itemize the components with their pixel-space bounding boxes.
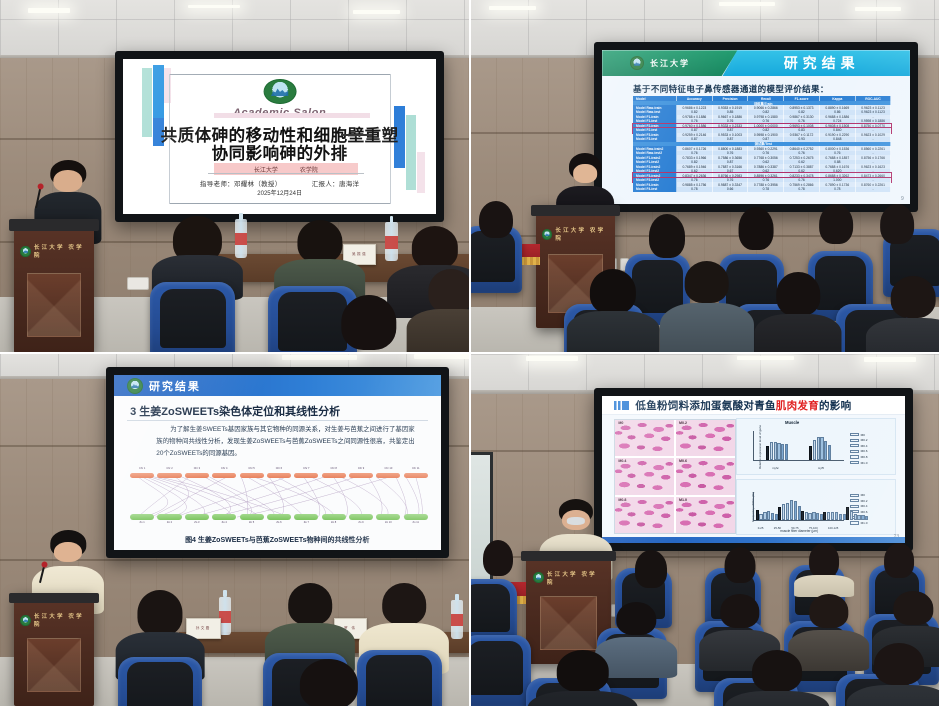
underline-mark [341,134,372,136]
hair [412,226,458,268]
legend-item: M1.0 [850,461,894,465]
bar [857,515,860,521]
hair [635,550,667,588]
chromosome-label: Chr 5 [248,467,254,470]
ceiling-light [855,7,902,11]
chromosome-bar: Zo 7 [294,514,318,520]
slide-header: 低鱼粉饲料添加蛋氨酸对青鱼肌肉发育的影响 [602,396,905,415]
torso [725,691,830,706]
hair [341,295,396,350]
audience-member [855,650,939,706]
hair [891,276,936,318]
legend-swatch [850,455,859,458]
lectern-front-panel [27,638,81,692]
panel-bottom-left: 研究结果 3 生姜ZoSWEETs染色体定位和其线性分析 为了解生姜SWEETs… [0,353,470,706]
figure-caption: 图4 生姜ZoSWEETs与芭蕉ZoSWEETs物种间的共线性分析 [114,535,441,545]
lectern-logo-text: 长江大学 农学院 [34,612,88,628]
x-tick-label: myf5 [818,466,824,470]
legend-item: M1.0 [850,521,894,525]
hair [809,543,839,578]
micrograph-label: M0.2 [679,421,687,425]
divider [169,74,391,75]
micrograph-label: M0.4 [618,459,626,463]
bar [767,511,770,521]
lectern-top [9,593,98,603]
chromosome-label: Chr 3 [194,467,200,470]
legend-label: M0.8 [861,455,868,459]
bar [813,440,816,460]
chromosome-label: Zo 10 [385,521,392,524]
chromosome-bar: Chr 6 [267,473,291,479]
torso [755,314,842,353]
bar-group [846,492,869,521]
chromosome-bar: Zo 2 [157,514,181,520]
legend-swatch [850,444,859,447]
bar [777,443,780,460]
chromosome-bar: Chr 5 [240,473,264,479]
chromosome-bar: Zo 8 [322,514,346,520]
hair [724,547,755,584]
chromosome-row-top: Chr 1Chr 2Chr 3Chr 4Chr 5Chr 6Chr 7Chr 8… [130,473,428,479]
advisor-label: 指导老师：邓耀林（教授） [200,181,282,188]
bar [835,512,838,520]
slide-header-right: 研究结果 [722,50,910,76]
bar [861,515,864,520]
footer-strip [602,537,905,543]
audience-member [470,205,522,254]
micrograph-label: M0 [618,421,623,425]
ceiling-light [282,355,357,361]
micrograph-label: M1.0 [679,498,687,502]
auditorium-seat [118,657,203,706]
chromosome-bar: Zo 1 [130,514,154,520]
hair [297,220,342,263]
chromosome-bar: Zo 11 [404,514,428,520]
page-number: 9 [901,196,904,202]
chromosome-label: Chr 9 [358,467,364,470]
hair [893,591,932,625]
bar [828,445,831,460]
micrograph-label: M0.8 [618,498,626,502]
chart-axes [753,431,844,461]
bar [801,511,804,520]
torso [407,309,470,353]
bar [770,442,773,460]
audience-member [733,657,822,706]
slide-header-left: 长江大学 [602,50,737,76]
table-cell: 0.66 [713,187,749,192]
chromosome-label: Zo 11 [413,521,419,524]
stripe-decoration-icon [614,401,629,410]
chromosome-label: Chr 4 [221,467,227,470]
hair [300,659,358,706]
bar-group [756,492,779,521]
table-cell: 0.78 [748,187,784,192]
table-cell: 0.78 [784,187,820,192]
ceiling-light [737,356,793,361]
chart-muscle-expression: Muscle Relative expression level of gene… [736,418,897,475]
eyebrow-highlight [214,113,371,118]
hair [382,583,426,625]
hair [819,204,853,245]
lectern-top [531,205,620,216]
audience-member [573,275,653,353]
slide-header-title: 研究结果 [149,378,201,394]
chromosome-label: Zo 9 [358,521,363,524]
hair [777,272,821,316]
histology-micrograph: M0.6 [676,458,735,494]
bar [786,503,789,521]
histology-micrograph: M0.8 [615,497,674,533]
audience-member [639,219,695,275]
title-suffix: 的影响 [819,400,851,412]
panel-top-left: Academic Salon 共质体砷的移动性和细胞壁重塑 协同影响砷的外排 长… [0,0,470,353]
ceiling-light [28,8,70,12]
bar [827,512,830,520]
legend-label: M1.0 [861,461,868,465]
chart-legend: M0M0.2M0.4M0.6M0.8M1.0 [848,419,896,474]
table-cell: Model F4-test [633,187,677,192]
chromosome-label: Zo 4 [222,521,227,524]
bar [816,513,819,520]
audience-member [761,279,836,353]
bar [820,437,823,460]
bar [854,514,857,521]
audience-member [667,268,747,353]
slide-fish-muscle: 低鱼粉饲料添加蛋氨酸对青鱼肌肉发育的影响 长江大学 M0M0.2M0.4M0.6… [602,396,905,542]
audience-member [798,547,850,596]
bar [831,512,834,521]
micrograph-label: M0.6 [679,459,687,463]
ceiling-light [489,6,536,10]
head [573,164,597,182]
x-axis-label: muscle fiber diameter (μm) [755,529,844,533]
legend-swatch [850,521,859,524]
bar [865,516,868,521]
bar [812,512,815,521]
ceiling-light [188,5,240,9]
bar [809,446,812,460]
audience-member [324,300,413,353]
water-bottle [451,600,463,639]
hair [720,594,759,628]
ceiling-light [414,354,470,359]
bar [846,507,849,520]
lectern-logo-text: 长江大学 农学院 [34,243,88,259]
divider [169,203,391,204]
chromosome-bar: Zo 9 [349,514,373,520]
hair [809,594,848,628]
slide-header-title: 研究结果 [784,53,860,73]
audience-member [536,657,630,706]
face-mask [566,517,584,525]
lectern-top [9,219,98,231]
hair [752,650,802,692]
chart-column: Muscle Relative expression level of gene… [736,418,897,535]
table-cell: 0.78 [677,187,713,192]
torso [527,691,638,706]
chromosome-label: Chr 10 [384,467,392,470]
bar [774,442,777,459]
ceiling-light [353,10,400,14]
bar-group [823,492,846,521]
audience-member [282,664,376,706]
chromosome-bar: Zo 4 [212,514,236,520]
university-seal-icon [630,56,644,70]
hair [590,269,636,315]
lectern-front-panel [27,273,81,337]
chromosome-row-bottom: Zo 1Zo 2Zo 3Zo 4Zo 5Zo 6Zo 7Zo 8Zo 9Zo 1… [130,514,428,520]
hair [685,261,730,303]
slide-title: Academic Salon 共质体砷的移动性和细胞壁重塑 协同影响砷的外排 长… [123,59,436,214]
bar [794,501,797,520]
synteny-figure: Chr 1Chr 2Chr 3Chr 4Chr 5Chr 6Chr 7Chr 8… [130,469,428,525]
bar [785,444,788,459]
bar [808,513,811,520]
university-seal-icon [542,229,552,240]
auditorium-seat [470,635,531,706]
legend-label: M0.6 [861,449,868,453]
projection-screen: Academic Salon 共质体砷的移动性和细胞壁重塑 协同影响砷的外排 长… [115,51,444,222]
university-name: 长江大学 [650,58,690,69]
bar [805,512,808,520]
table-row: Model F4-test0.780.660.780.780.78- [633,187,891,192]
histology-micrograph: M0 [615,420,674,456]
bar-group [801,492,824,521]
chromosome-bar: Zo 10 [376,514,400,520]
chromosome-label: Chr 8 [330,467,336,470]
lectern: 长江大学 农学院 [14,219,94,353]
university-seal-icon [20,615,30,626]
head [53,170,82,192]
chart-title: Muscle [737,420,848,425]
lectern-nameplate: 长江大学 农学院 [20,611,87,629]
chromosome-bar: Chr 7 [294,473,318,479]
legend-swatch [850,450,859,453]
torso [794,575,854,597]
hair [884,543,914,578]
university-seal-icon [20,246,30,257]
hair [556,650,609,692]
chromosome-label: Zo 7 [304,521,309,524]
bar [778,507,781,521]
auditorium-seat [150,282,235,353]
hair [429,269,470,313]
section-title: 3 生姜ZoSWEETs染色体定位和其线性分析 [130,403,340,419]
water-bottle [235,219,247,258]
x-tick-labels: myhcmyf5 [753,466,844,470]
bar [850,511,853,520]
histology-micrograph: M0.2 [676,420,735,456]
chromosome-bar: Zo 6 [267,514,291,520]
bar-group [778,492,801,521]
torso [866,318,939,353]
chromosome-label: Zo 5 [249,521,254,524]
projection-screen: 低鱼粉饲料添加蛋氨酸对青鱼肌肉发育的影响 长江大学 M0M0.2M0.4M0.6… [594,388,913,550]
bar-groups [754,431,844,460]
legend-label: M0.4 [861,444,868,448]
bar [763,512,766,520]
chromosome-bar: Zo 3 [185,514,209,520]
chromosome-label: Zo 2 [167,521,172,524]
divider [208,173,365,174]
presenter-label: 汇报人：唐海洋 [312,181,360,188]
hair [880,204,914,245]
results-table: ModelAccuracyPrecisionRecallF1-scoreKapp… [633,96,891,191]
lectern-logo-text: 长江大学 农学院 [547,570,604,586]
nameplate-text: 孙文磊 [196,626,211,631]
audience-member [414,275,470,353]
auditorium-seat [470,579,517,643]
ceiling-light [526,356,578,361]
chromosome-bar: Chr 1 [130,473,154,479]
hair [617,602,656,636]
chromosome-bar: Chr 11 [404,473,428,479]
legend-swatch [850,433,859,436]
lectern: 长江大学 农学院 [14,593,94,706]
audience-member [808,208,864,264]
section-body-text: 为了解生姜SWEETs基因家族与其它物种的同源关系，对生姜与芭蕉之间进行了基因家… [156,424,414,461]
hair [483,540,513,577]
legend-item: M0.4 [850,444,894,448]
chromosome-bar: Chr 3 [185,473,209,479]
collage-divider-horizontal [0,352,939,354]
bar [817,437,820,460]
slide-date: 2025年12月24日 [123,188,436,197]
legend-item: M0 [850,433,894,437]
slide-subtitle: 基于不同特征电子鼻传感器通道的模型评价结果： [633,83,829,95]
hair [649,214,685,258]
hair [739,207,774,250]
chromosome-label: Chr 2 [166,467,172,470]
legend-label: M0.2 [861,438,868,442]
university-seal-icon [533,572,544,583]
chromosome-label: Zo 8 [331,521,336,524]
chromosome-label: Zo 3 [194,521,199,524]
bar [771,513,774,520]
bar [782,504,785,520]
credits-line: 指导老师：邓耀林（教授） 汇报人：唐海洋 [123,178,436,188]
plot-area: Frequency of fiber (%) 0-2525-5050-7575-… [737,480,848,535]
photo-collage: Academic Salon 共质体砷的移动性和细胞壁重塑 协同影响砷的外排 长… [0,0,939,706]
lectern-front-panel [540,596,597,650]
torso [567,311,659,353]
slide-title-line2: 协同影响砷的外排 [148,140,411,164]
bar-group [766,431,789,460]
legend-item: M0.2 [850,438,894,442]
bar [823,512,826,521]
bar [759,514,762,521]
projection-screen: 长江大学 研究结果 基于不同特征电子鼻传感器通道的模型评价结果： ModelAc… [594,42,918,211]
slide-title: 低鱼粉饲料添加蛋氨酸对青鱼肌肉发育的影响 [635,398,851,413]
bar-group [809,431,832,460]
chromosome-bar: Zo 5 [240,514,264,520]
table-cell: 0.78 [820,187,856,192]
audience-member [873,282,939,353]
lectern-nameplate: 长江大学 农学院 [20,240,87,261]
lectern-nameplate: 长江大学 农学院 [542,225,609,245]
audience-member [728,212,784,268]
chromosome-label: Chr 7 [303,467,309,470]
audience-member [869,208,925,264]
hair [137,590,182,636]
audience-member [873,547,925,596]
university-seal-icon [127,378,143,394]
torso [847,685,939,706]
chromosome-bar: Chr 10 [376,473,400,479]
lectern-logo-text: 长江大学 农学院 [555,226,609,242]
audience-member [714,551,766,600]
title-highlight: 肌肉发育 [776,400,819,412]
panel-top-right: 长江大学 研究结果 基于不同特征电子鼻传感器通道的模型评价结果： ModelAc… [470,0,939,353]
legend-item: M0.6 [850,449,894,453]
ceiling-light [719,2,775,6]
university-seal-icon [263,79,296,105]
chromosome-label: Chr 6 [276,467,282,470]
panel-bottom-right: 低鱼粉饲料添加蛋氨酸对青鱼肌肉发育的影响 长江大学 M0M0.2M0.4M0.6… [470,353,939,706]
title-prefix: 低鱼粉饲料添加蛋氨酸对青鱼 [635,400,775,412]
legend-label: M0 [861,433,865,437]
chromosome-bar: Chr 8 [322,473,346,479]
bar [824,441,827,460]
chromosome-label: Chr 11 [412,467,420,470]
slide-synteny: 研究结果 3 生姜ZoSWEETs染色体定位和其线性分析 为了解生姜SWEETs… [114,375,441,550]
wall-socket [127,277,149,290]
lectern-nameplate: 长江大学 农学院 [533,569,604,587]
chromosome-label: Zo 6 [276,521,281,524]
divider [127,420,428,421]
chart-fiber-frequency: Frequency of fiber (%) 0-2525-5050-7575-… [736,479,897,536]
histology-micrograph: M1.0 [676,497,735,533]
hair [479,201,513,239]
chromosome-bar: Chr 9 [349,473,373,479]
bar [781,444,784,460]
hair [874,643,924,685]
x-tick-label: myhc [772,466,779,470]
head [54,542,82,562]
audience-member [625,554,677,603]
torso [660,303,754,353]
projection-screen: 研究结果 3 生姜ZoSWEETs染色体定位和其线性分析 为了解生姜SWEETs… [106,367,449,558]
ceiling-light [864,357,916,362]
table-cell: - [856,187,892,192]
lectern-top [521,551,616,561]
slide-header: 研究结果 [114,375,441,396]
plot-area: Muscle Relative expression level of gene… [737,419,848,474]
bar [839,514,842,521]
bar [790,500,793,521]
legend-swatch [850,439,859,442]
chromosome-bar: Chr 2 [157,473,181,479]
legend-swatch [850,461,859,464]
histology-micrograph: M0.4 [615,458,674,494]
chromosome-label: Chr 1 [139,467,145,470]
hair [288,583,332,625]
bar-groups [754,492,844,521]
bar [756,510,759,520]
legend-item: M0.8 [850,455,894,459]
chart-axes [753,492,844,522]
legend-label: M1.0 [861,521,868,525]
slide-results-table: 长江大学 研究结果 基于不同特征电子鼻传感器通道的模型评价结果： ModelAc… [602,50,910,203]
chromosome-label: Zo 1 [140,521,145,524]
bar [766,446,769,460]
histology-image-grid: M0M0.2M0.4M0.6M0.8M1.0 [614,419,735,534]
chromosome-bar: Chr 4 [212,473,236,479]
